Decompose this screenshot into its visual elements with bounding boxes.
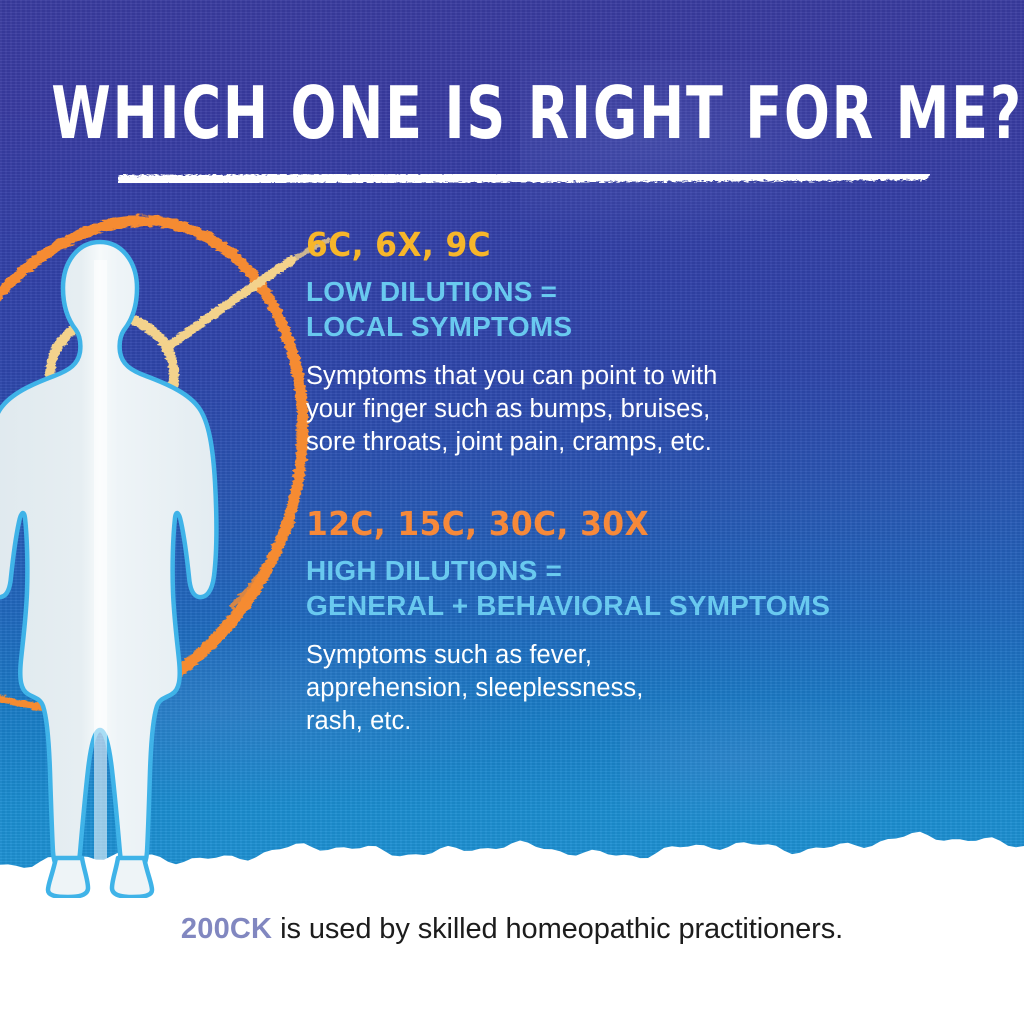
dose-label-low: 6C, 6X, 9C xyxy=(306,228,933,263)
title-underline-brushstroke xyxy=(118,168,930,190)
dilution-block-low: 6C, 6X, 9C LOW DILUTIONS = LOCAL SYMPTOM… xyxy=(306,228,966,459)
subtitle-high: HIGH DILUTIONS = GENERAL + BEHAVIORAL SY… xyxy=(306,554,966,623)
footer-code-label: 200CK xyxy=(181,913,272,945)
footer-note: 200CK is used by skilled homeopathic pra… xyxy=(0,913,1024,946)
figure-body xyxy=(0,242,216,872)
figure-highlight-stripe xyxy=(94,260,107,860)
infographic-poster: WHICH ONE IS RIGHT FOR ME? 6C, 6X, 9C LO… xyxy=(0,0,1024,1024)
description-high: Symptoms such as fever, apprehension, sl… xyxy=(306,639,966,738)
figure-feet xyxy=(48,858,152,897)
description-low: Symptoms that you can point to with your… xyxy=(306,360,966,459)
dilution-block-high: 12C, 15C, 30C, 30X HIGH DILUTIONS = GENE… xyxy=(306,507,966,738)
content-column: 6C, 6X, 9C LOW DILUTIONS = LOCAL SYMPTOM… xyxy=(306,228,966,738)
subtitle-low: LOW DILUTIONS = LOCAL SYMPTOMS xyxy=(306,275,966,344)
footer-text: is used by skilled homeopathic practitio… xyxy=(272,913,843,945)
page-title: WHICH ONE IS RIGHT FOR ME? xyxy=(51,78,973,150)
human-silhouette-figure xyxy=(0,236,230,898)
dose-label-high: 12C, 15C, 30C, 30X xyxy=(306,507,933,542)
